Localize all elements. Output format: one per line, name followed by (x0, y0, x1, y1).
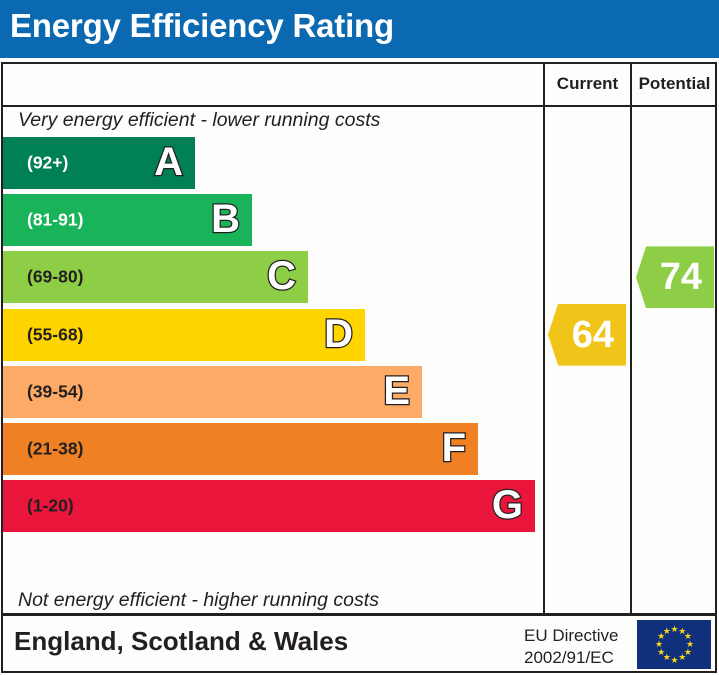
band-letter-label: G (492, 485, 523, 525)
band-range-label: (55-68) (27, 324, 83, 345)
band-range-label: (1-20) (27, 496, 74, 517)
chart-title-bar: Energy Efficiency Rating (0, 0, 719, 58)
rating-band-f: (21-38)F (3, 423, 478, 475)
band-range-label: (69-80) (27, 267, 83, 288)
rating-band-d: (55-68)D (3, 309, 365, 361)
potential-rating-marker: 74 (636, 246, 714, 308)
eu-flag-star: ★ (671, 626, 678, 633)
potential-rating-value: 74 (660, 258, 714, 296)
column-separator-current (543, 62, 545, 615)
eu-directive-line-2: 2002/91/EC (524, 647, 618, 669)
band-range-label: (81-91) (27, 210, 83, 231)
band-letter-label: C (267, 257, 296, 297)
eu-flag-star: ★ (657, 649, 664, 656)
header-divider (1, 105, 717, 107)
band-letter-label: E (383, 371, 410, 411)
caption-bottom: Not energy efficient - higher running co… (18, 589, 379, 612)
column-separator-potential (630, 62, 632, 615)
column-header-potential: Potential (632, 74, 717, 94)
band-letter-label: A (154, 142, 183, 182)
eu-flag-star: ★ (655, 641, 662, 648)
footer-divider (1, 613, 717, 616)
eu-flag-icon: ★★★★★★★★★★★★ (637, 620, 711, 669)
eu-directive-line-1: EU Directive (524, 625, 618, 647)
rating-band-b: (81-91)B (3, 194, 252, 246)
current-rating-value: 64 (572, 316, 626, 354)
column-header-current: Current (545, 74, 630, 94)
band-range-label: (21-38) (27, 439, 83, 460)
page-title: Energy Efficiency Rating (10, 7, 394, 45)
rating-band-a: (92+)A (3, 137, 195, 189)
eu-flag-star: ★ (671, 657, 678, 664)
eu-directive-label: EU Directive 2002/91/EC (524, 625, 618, 669)
current-rating-marker: 64 (548, 304, 626, 366)
band-range-label: (92+) (27, 153, 68, 174)
band-letter-label: F (442, 428, 466, 468)
energy-efficiency-rating-chart: Energy Efficiency Rating Current Potenti… (0, 0, 719, 675)
band-letter-label: B (211, 199, 240, 239)
eu-flag-star: ★ (663, 628, 670, 635)
eu-flag-star: ★ (678, 654, 685, 661)
country-label: England, Scotland & Wales (14, 626, 348, 657)
caption-top: Very energy efficient - lower running co… (18, 109, 380, 132)
band-range-label: (39-54) (27, 381, 83, 402)
rating-band-c: (69-80)C (3, 251, 308, 303)
rating-band-g: (1-20)G (3, 480, 535, 532)
band-letter-label: D (324, 314, 353, 354)
rating-band-e: (39-54)E (3, 366, 422, 418)
